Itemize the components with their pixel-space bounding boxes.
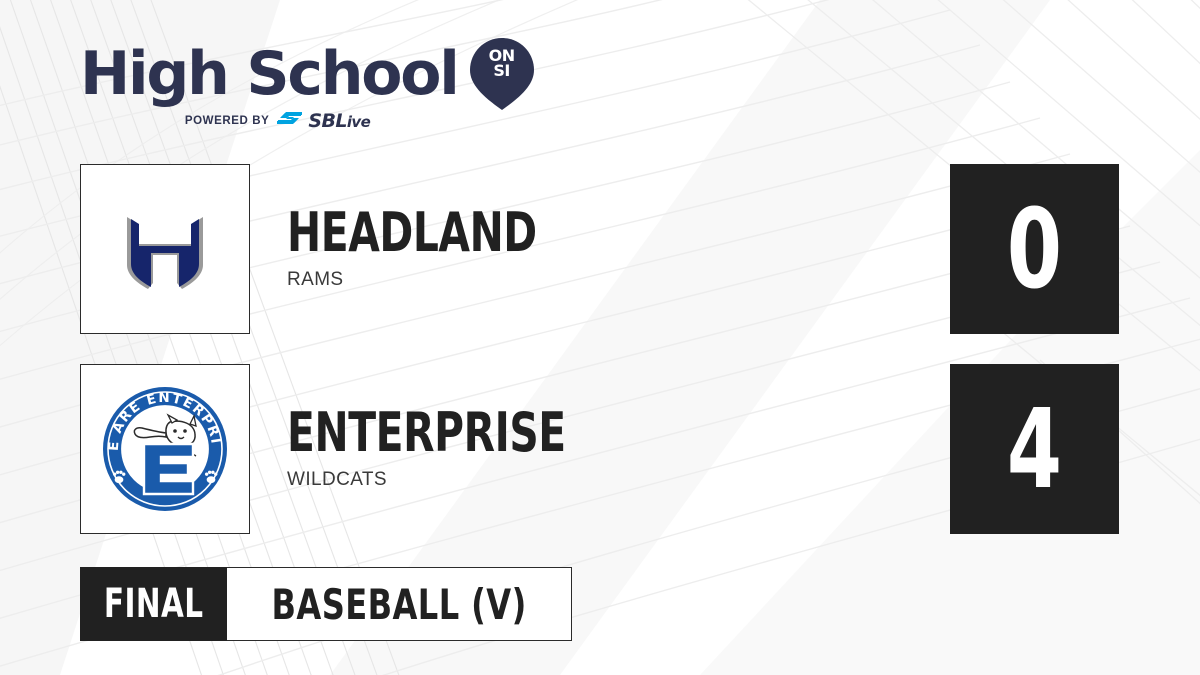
score-box-enterprise: 4 (950, 364, 1119, 534)
team-name-headland: HEADLAND (287, 205, 537, 261)
team-mascot-headland: RAMS (287, 269, 584, 291)
powered-by-row: POWERED BY SBLive (80, 111, 475, 131)
score-box-headland: 0 (950, 164, 1119, 334)
pin-line-si: SI (493, 61, 509, 80)
brand-title-row: High School ON SI (80, 38, 510, 110)
status-badge-final: FINAL (80, 567, 227, 641)
on-si-pin-icon: ON SI (470, 38, 534, 110)
sblive-mark-icon (277, 111, 303, 131)
powered-by-label: POWERED BY (185, 115, 270, 127)
score-value-enterprise: 4 (1007, 394, 1062, 504)
status-badge-label: FINAL (104, 581, 204, 627)
status-sport-label: BASEBALL (V) (272, 580, 527, 629)
team-mascot-enterprise: WILDCATS (287, 469, 619, 491)
game-status-bar: FINAL BASEBALL (V) (80, 567, 572, 641)
team-info-headland: HEADLAND RAMS (287, 205, 584, 291)
sblive-name-suffix: ive (347, 113, 370, 131)
brand-logo[interactable]: High School ON SI POWERED BY SBLive (80, 38, 510, 138)
score-value-headland: 0 (1007, 194, 1062, 304)
sblive-wordmark: SBLive (308, 110, 370, 132)
sblive-name: SBL (308, 110, 346, 132)
on-si-pin-label: ON SI (470, 48, 534, 78)
status-sport: BASEBALL (V) (227, 567, 572, 641)
brand-title-text: High School (80, 43, 458, 105)
headland-h-logo-icon (105, 189, 225, 309)
team-name-enterprise: ENTERPRISE (287, 405, 566, 461)
team-info-enterprise: ENTERPRISE WILDCATS (287, 405, 619, 491)
team-logo-enterprise[interactable]: WE ARE ENTERPRISE · E.H.S. · (80, 364, 250, 534)
team-logo-headland[interactable] (80, 164, 250, 334)
enterprise-seal-logo-icon: WE ARE ENTERPRISE · E.H.S. · (100, 384, 230, 514)
